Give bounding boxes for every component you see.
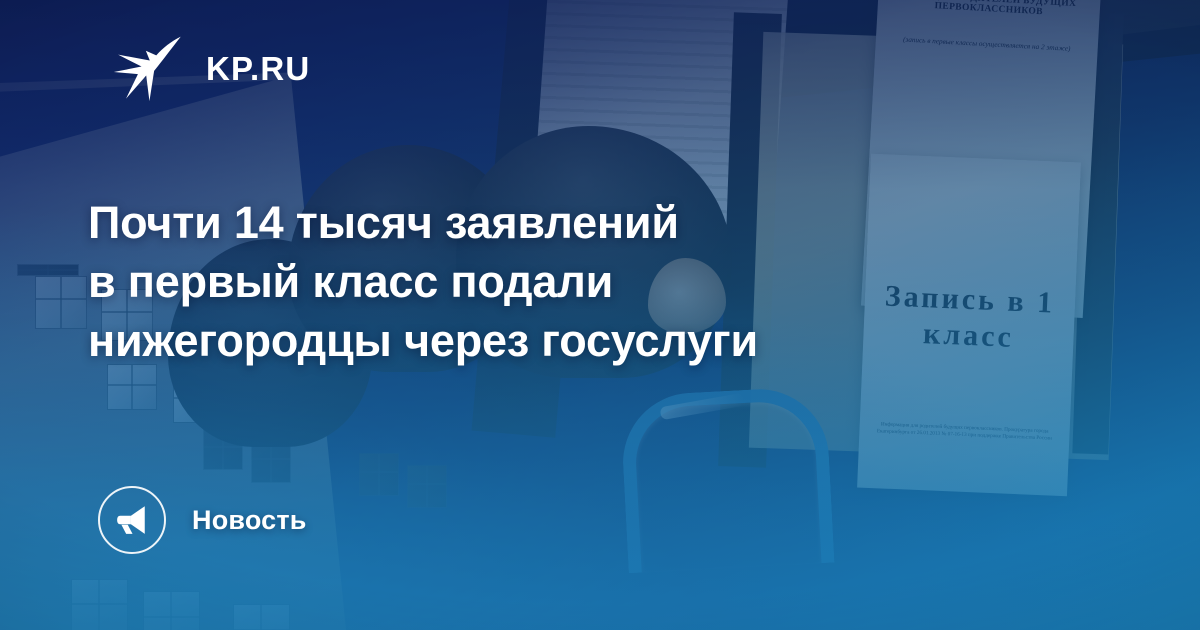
- brand-lockup[interactable]: KP.RU: [112, 32, 310, 104]
- headline-line-1: Почти 14 тысяч заявлений: [88, 193, 988, 252]
- status-badge-label: Новость: [192, 505, 307, 536]
- card-content: KP.RU Почти 14 тысяч заявлений в первый …: [0, 0, 1200, 630]
- megaphone-icon: [98, 486, 166, 554]
- headline-line-2: в первый класс подали: [88, 252, 988, 311]
- news-share-card: ВХОД ДЛЯ РОДИТЕЛЕЙ БУДУЩИХ ПЕРВОКЛАССНИК…: [0, 0, 1200, 630]
- brand-wordmark: KP.RU: [206, 52, 310, 85]
- page-title: Почти 14 тысяч заявлений в первый класс …: [88, 193, 988, 370]
- swallow-bird-logo-icon: [112, 32, 184, 104]
- status-badge[interactable]: Новость: [98, 486, 307, 554]
- headline-line-3: нижегородцы через госуслуги: [88, 311, 988, 370]
